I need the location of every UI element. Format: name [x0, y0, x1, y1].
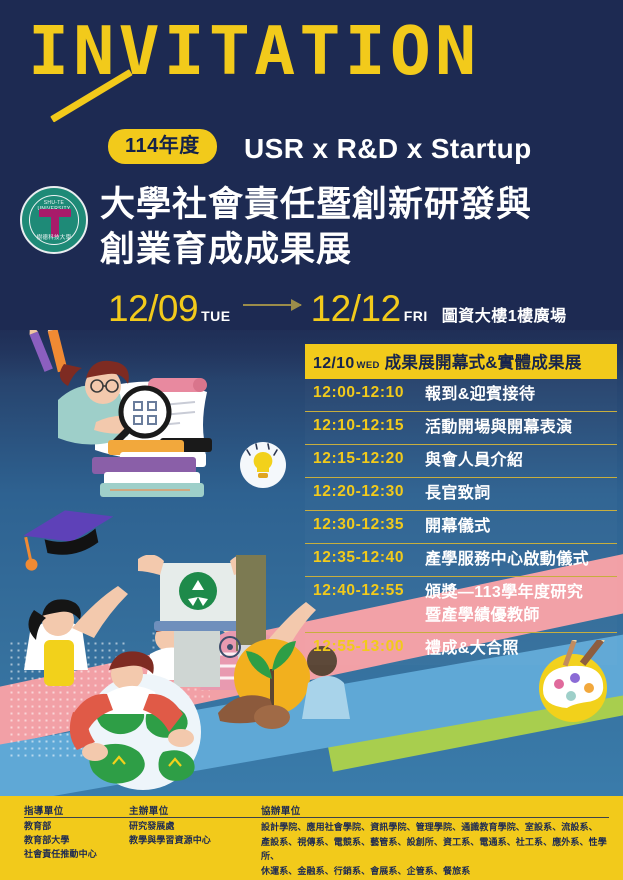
schedule-header-date: 12/10 [313, 355, 355, 373]
year-badge: 114年度 [108, 129, 217, 164]
schedule-row-item-line1: 產學服務中心啟動儀式 [425, 551, 589, 568]
event-venue: 圖資大樓1樓廣場 [442, 302, 567, 326]
event-date-row: 12/09 TUE 12/12 FRI 圖資大樓1樓廣場 [108, 288, 567, 330]
footer-advisor-heading: 指導單位 [24, 803, 129, 817]
footer-coorganizer-line: 設計學院、應用社會學院、資訊學院、管理學院、通識教育學院、室設系、流設系、 [261, 820, 609, 835]
schedule-row-item-line1: 長官致詞 [425, 485, 491, 502]
page-title: INVITATION [28, 18, 615, 85]
schedule-row-item: 與會人員介紹 [425, 450, 523, 472]
date-start-day: TUE [201, 308, 231, 324]
footer-column-advisor: 指導單位 教育部教育部大學社會責任推動中心 [24, 803, 129, 878]
graduation-cap-icon [16, 501, 121, 572]
schedule-rows: 12:00-12:10報到&迎賓接待12:10-12:15活動開場與開幕表演12… [305, 379, 617, 665]
title-chinese-line1: 大學社會責任暨創新研發與 [100, 183, 532, 228]
schedule-row-item: 禮成&大合照 [425, 638, 519, 660]
schedule-row-item-line1: 頒獎—113學年度研究 [425, 584, 583, 601]
footer-coorganizer-heading: 協辦單位 [261, 803, 609, 817]
footer-coorganizer-line: 產設系、視傳系、電競系、藝管系、設創所、資工系、電通系、社工系、應外系、性學所、 [261, 835, 609, 864]
schedule-row-time: 12:20-12:30 [313, 483, 425, 501]
schedule-row: 12:15-12:20與會人員介紹 [305, 445, 617, 478]
title-chinese-line2: 創業育成成果展 [100, 228, 532, 273]
footer-coorganizer-lines: 設計學院、應用社會學院、資訊學院、管理學院、通識教育學院、室設系、流設系、產設系… [261, 820, 609, 878]
schedule-row: 12:20-12:30長官致詞 [305, 478, 617, 511]
footer-host-heading: 主辦單位 [129, 803, 261, 817]
schedule-row-time: 12:40-12:55 [313, 582, 425, 600]
footer: 指導單位 教育部教育部大學社會責任推動中心 主辦單位 研究發展處教學與學習資源中… [0, 796, 623, 880]
schedule-row-time: 12:15-12:20 [313, 450, 425, 468]
schedule-row-item: 長官致詞 [425, 483, 491, 505]
footer-coorganizer-line: 休運系、金融系、行銷系、會展系、企管系、餐旅系 [261, 864, 609, 879]
seal-inner-ring: SHU-TE UNIVERSITY 樹德科技大學 [29, 195, 79, 245]
footer-advisor-lines: 教育部教育部大學社會責任推動中心 [24, 820, 129, 862]
schedule-row-item-line1: 禮成&大合照 [425, 640, 519, 657]
lightbulb-icon [240, 442, 286, 488]
illustration-globe [55, 640, 225, 800]
schedule-row-time: 12:35-12:40 [313, 549, 425, 567]
footer-advisor-line: 教育部 [24, 820, 129, 834]
schedule-row: 12:00-12:10報到&迎賓接待 [305, 379, 617, 412]
schedule-row: 12:55-13:00禮成&大合照 [305, 633, 617, 665]
schedule-row-item: 頒獎—113學年度研究暨產學績優教師 [425, 582, 583, 626]
footer-divider [24, 817, 609, 818]
schedule-row-item-line1: 報到&迎賓接待 [425, 386, 535, 403]
footer-advisor-line: 教育部大學 [24, 834, 129, 848]
subtitle-english: USR x R&D x Startup [244, 133, 532, 165]
date-start: 12/09 [108, 288, 198, 330]
footer-advisor-line: 社會責任推動中心 [24, 848, 129, 862]
schedule-row-time: 12:55-13:00 [313, 638, 425, 656]
schedule-header-title: 成果展開幕式&實體成果展 [385, 349, 582, 373]
schedule-row-item: 產學服務中心啟動儀式 [425, 549, 589, 571]
schedule-row-item: 開幕儀式 [425, 516, 491, 538]
schedule-header: 12/10 WED 成果展開幕式&實體成果展 [305, 344, 617, 379]
schedule-row-item-line1: 活動開場與開幕表演 [425, 419, 573, 436]
schedule-row: 12:35-12:40產學服務中心啟動儀式 [305, 544, 617, 577]
schedule-row-item-line2: 暨產學績優教師 [425, 605, 583, 627]
date-end: 12/12 [311, 288, 401, 330]
footer-host-line: 教學與學習資源中心 [129, 834, 261, 848]
university-seal-logo: SHU-TE UNIVERSITY 樹德科技大學 [20, 186, 88, 254]
footer-host-lines: 研究發展處教學與學習資源中心 [129, 820, 261, 848]
schedule-row: 12:30-12:35開幕儀式 [305, 511, 617, 544]
title-chinese: 大學社會責任暨創新研發與 創業育成成果展 [100, 183, 532, 273]
schedule-row-item: 活動開場與開幕表演 [425, 417, 573, 439]
footer-column-coorganizer: 協辦單位 設計學院、應用社會學院、資訊學院、管理學院、通識教育學院、室設系、流設… [261, 803, 609, 878]
arrow-right-icon [243, 304, 301, 306]
schedule-table: 12/10 WED 成果展開幕式&實體成果展 12:00-12:10報到&迎賓接… [305, 344, 617, 665]
schedule-header-day: WED [357, 360, 380, 371]
schedule-row-item-line1: 與會人員介紹 [425, 452, 523, 469]
invitation-poster: INVITATION 114年度 USR x R&D x Startup SHU… [0, 0, 623, 880]
footer-host-line: 研究發展處 [129, 820, 261, 834]
schedule-row: 12:40-12:55頒獎—113學年度研究暨產學績優教師 [305, 577, 617, 632]
schedule-row-time: 12:10-12:15 [313, 417, 425, 435]
date-end-day: FRI [404, 308, 428, 324]
schedule-row-time: 12:00-12:10 [313, 384, 425, 402]
seal-bottom-text: 樹德科技大學 [30, 233, 78, 241]
footer-column-host: 主辦單位 研究發展處教學與學習資源中心 [129, 803, 261, 878]
schedule-row-time: 12:30-12:35 [313, 516, 425, 534]
schedule-row-item-line1: 開幕儀式 [425, 518, 491, 535]
schedule-row: 12:10-12:15活動開場與開幕表演 [305, 412, 617, 445]
schedule-row-item: 報到&迎賓接待 [425, 384, 535, 406]
